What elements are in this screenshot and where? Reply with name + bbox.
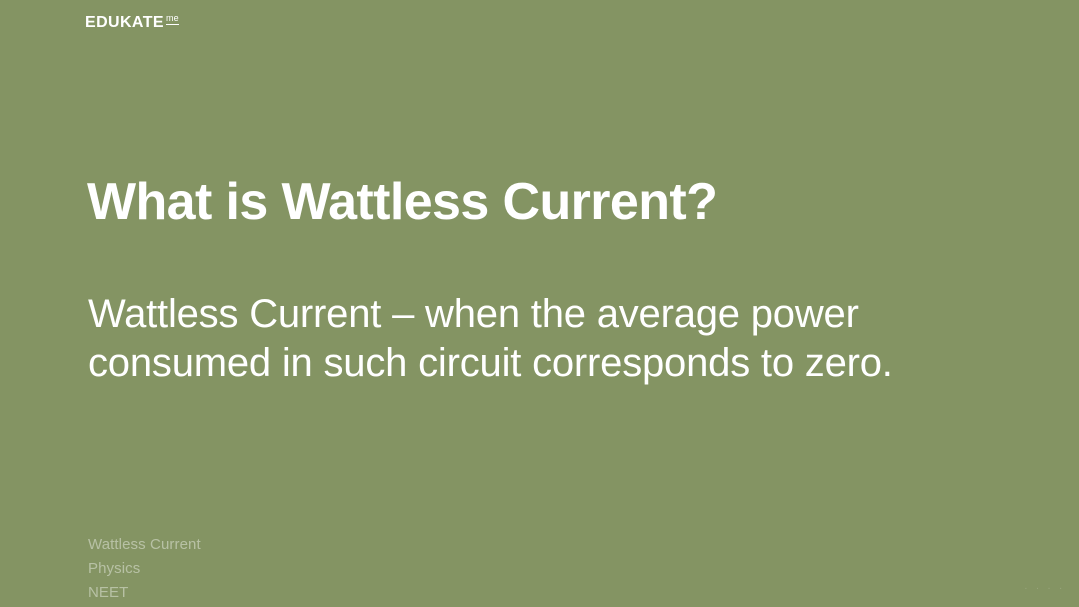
edukate-logo[interactable]: EDUKATE me [85, 13, 179, 32]
corner-marks: . . . . [1025, 581, 1065, 593]
logo-wordmark: EDUKATE [85, 13, 164, 32]
footer-topic: Wattless Current [88, 533, 201, 557]
slide-canvas: EDUKATE me What is Wattless Current? Wat… [0, 0, 1079, 607]
footer-metadata: Wattless Current Physics NEET [88, 533, 201, 605]
footer-exam: NEET [88, 581, 201, 605]
slide-title: What is Wattless Current? [87, 172, 987, 232]
footer-subject: Physics [88, 557, 201, 581]
logo-superscript: me [166, 13, 179, 25]
slide-body-text: Wattless Current – when the average powe… [88, 290, 968, 388]
